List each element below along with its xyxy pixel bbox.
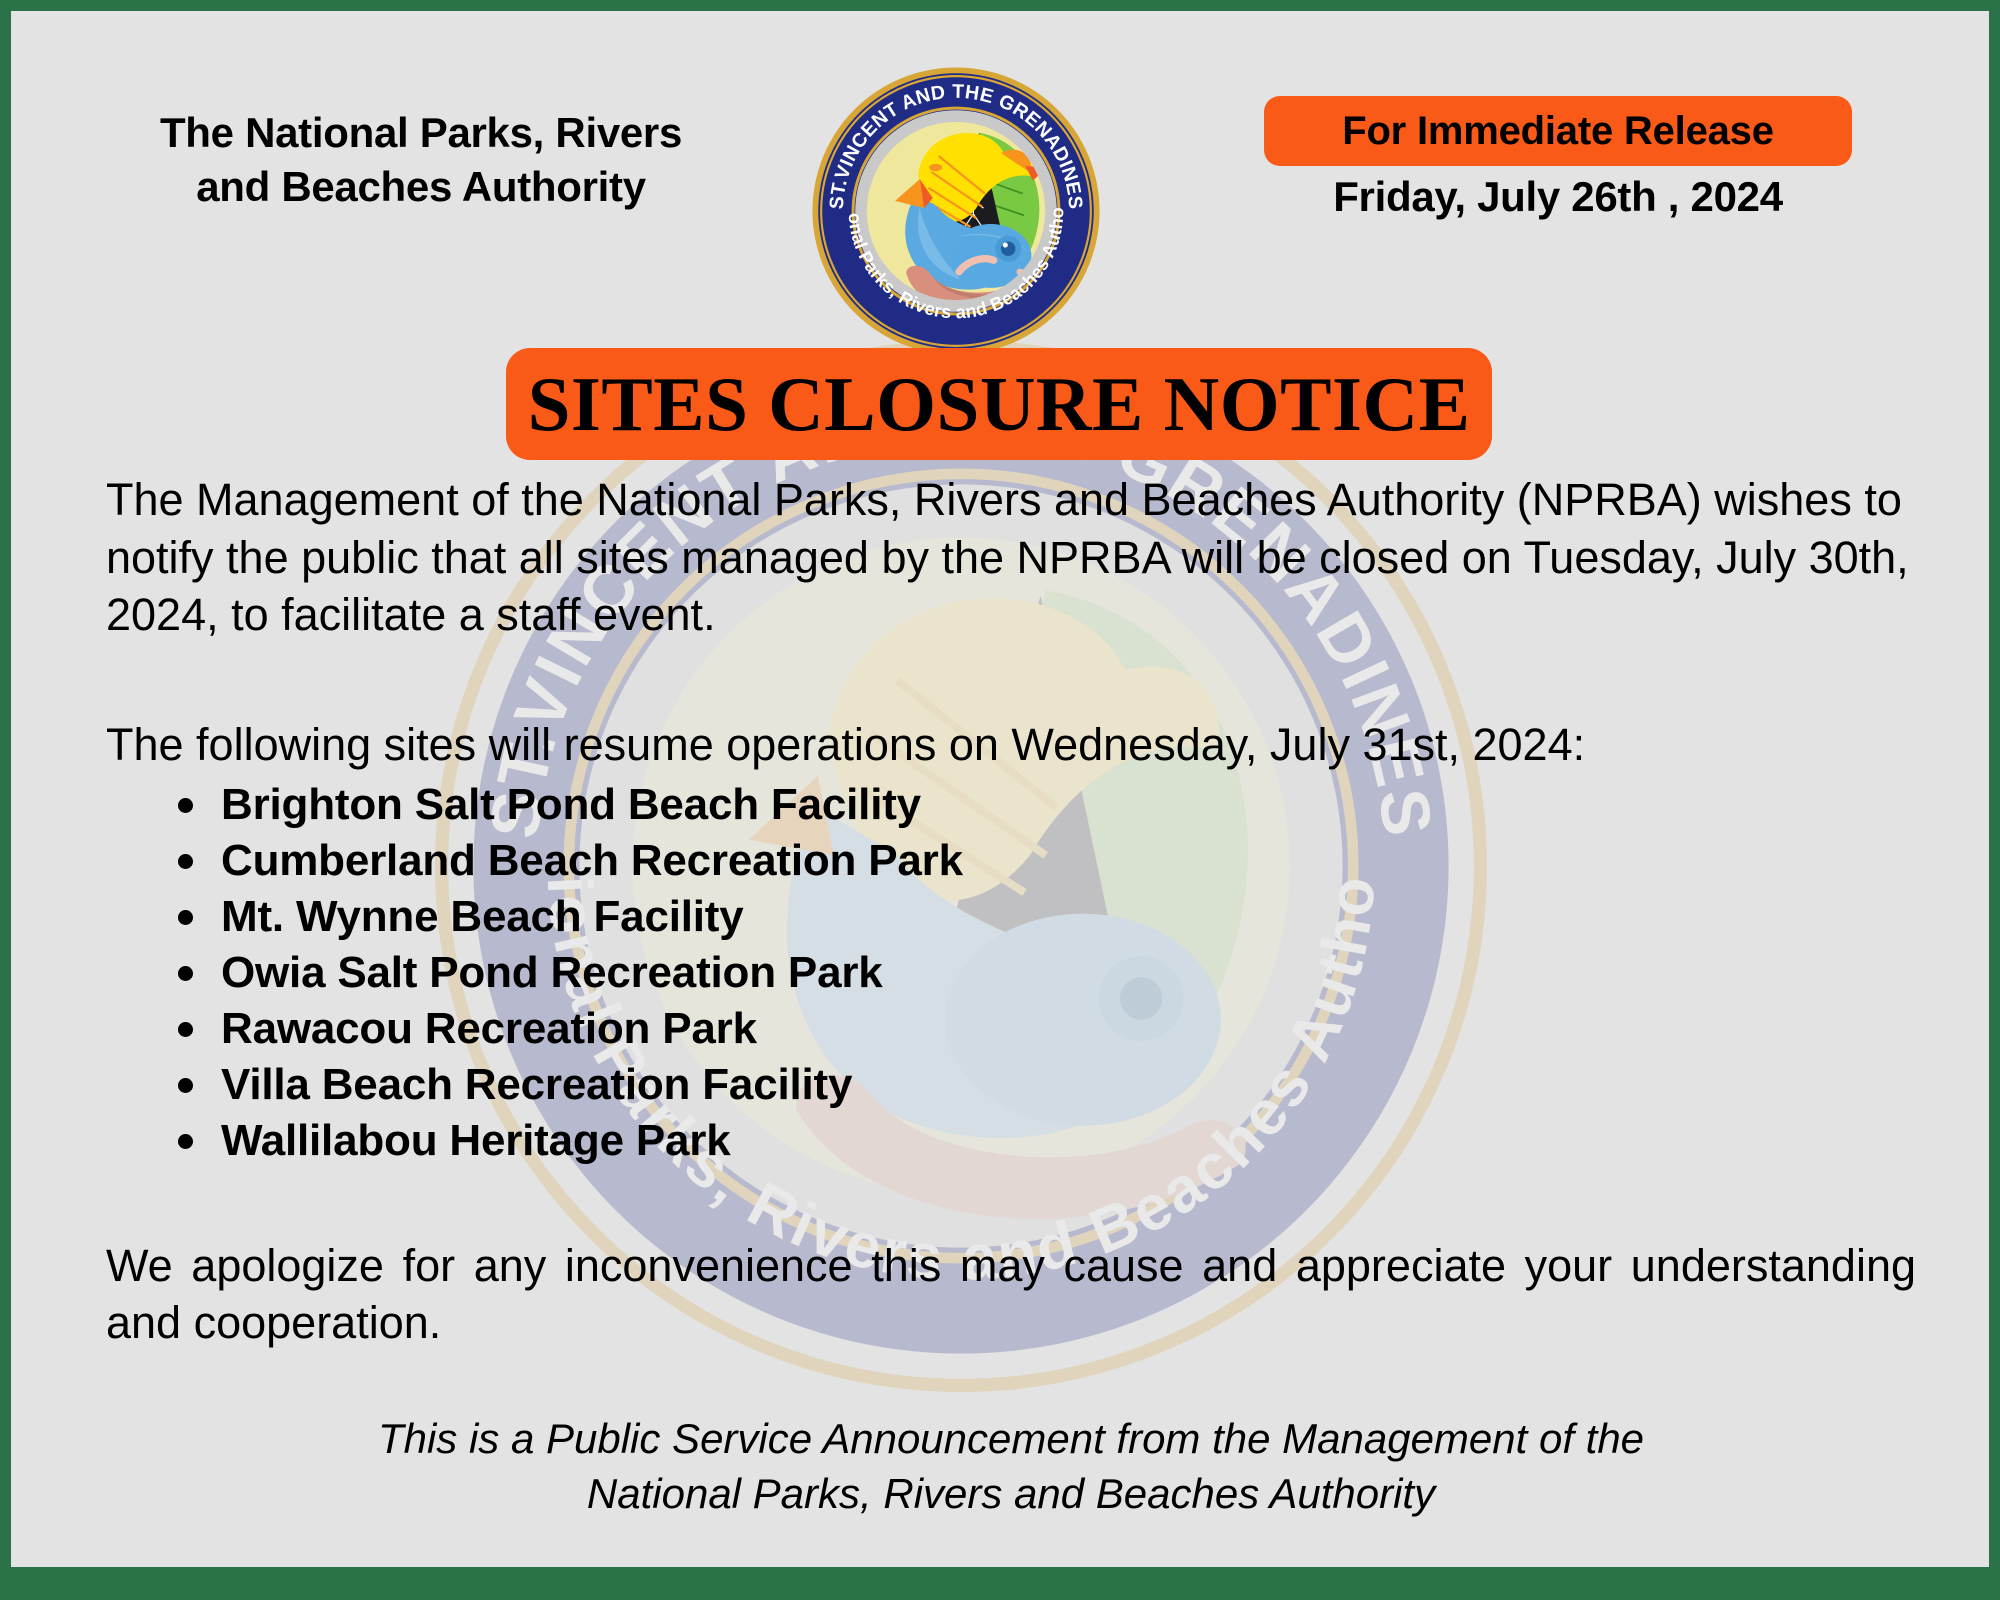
poster-header: The National Parks, Rivers and Beaches A… bbox=[11, 11, 1989, 341]
intro-paragraph: The Management of the National Parks, Ri… bbox=[106, 471, 1916, 644]
for-immediate-release-badge: For Immediate Release bbox=[1264, 96, 1852, 166]
seal-icon: ST.VINCENT AND THE GRENADINES National P… bbox=[811, 66, 1101, 356]
site-name: Mt. Wynne Beach Facility bbox=[221, 892, 744, 941]
organization-title: The National Parks, Rivers and Beaches A… bbox=[71, 106, 771, 214]
organization-logo: ST.VINCENT AND THE GRENADINES National P… bbox=[811, 66, 1101, 356]
list-item: Owia Salt Pond Recreation Park bbox=[166, 945, 1916, 1001]
site-name: Rawacou Recreation Park bbox=[221, 1004, 757, 1053]
list-item: Wallilabou Heritage Park bbox=[166, 1113, 1916, 1169]
notice-title-label: SITES CLOSURE NOTICE bbox=[528, 360, 1471, 449]
body-spacer bbox=[106, 1169, 1916, 1237]
site-name: Cumberland Beach Recreation Park bbox=[221, 836, 963, 885]
list-item: Cumberland Beach Recreation Park bbox=[166, 833, 1916, 889]
footer-line-2: National Parks, Rivers and Beaches Autho… bbox=[106, 1466, 1916, 1521]
notice-body: The Management of the National Parks, Ri… bbox=[106, 471, 1916, 1352]
site-name: Owia Salt Pond Recreation Park bbox=[221, 948, 883, 997]
organization-title-line-1: The National Parks, Rivers bbox=[71, 106, 771, 160]
for-immediate-release-label: For Immediate Release bbox=[1342, 109, 1774, 154]
footer-line-1: This is a Public Service Announcement fr… bbox=[106, 1411, 1916, 1466]
bullet-icon bbox=[178, 1078, 193, 1093]
apology-paragraph: We apologize for any inconvenience this … bbox=[106, 1237, 1916, 1352]
site-name: Villa Beach Recreation Facility bbox=[221, 1060, 852, 1109]
site-list: Brighton Salt Pond Beach Facility Cumber… bbox=[106, 777, 1916, 1168]
poster-footer: This is a Public Service Announcement fr… bbox=[106, 1411, 1916, 1522]
body-spacer bbox=[106, 644, 1916, 716]
poster-canvas: ST.VINCENT AND THE GRENADINES National P… bbox=[11, 11, 1989, 1567]
organization-title-line-2: and Beaches Authority bbox=[71, 160, 771, 214]
bullet-icon bbox=[178, 910, 193, 925]
resume-operations-intro: The following sites will resume operatio… bbox=[106, 716, 1916, 774]
list-item: Rawacou Recreation Park bbox=[166, 1001, 1916, 1057]
release-date: Friday, July 26th , 2024 bbox=[1264, 173, 1852, 221]
bullet-icon bbox=[178, 966, 193, 981]
list-item: Villa Beach Recreation Facility bbox=[166, 1057, 1916, 1113]
bullet-icon bbox=[178, 854, 193, 869]
site-name: Wallilabou Heritage Park bbox=[221, 1116, 731, 1165]
site-name: Brighton Salt Pond Beach Facility bbox=[221, 780, 921, 829]
bullet-icon bbox=[178, 1134, 193, 1149]
list-item: Brighton Salt Pond Beach Facility bbox=[166, 777, 1916, 833]
notice-title-banner: SITES CLOSURE NOTICE bbox=[506, 348, 1492, 460]
list-item: Mt. Wynne Beach Facility bbox=[166, 889, 1916, 945]
bullet-icon bbox=[178, 1022, 193, 1037]
bullet-icon bbox=[178, 798, 193, 813]
